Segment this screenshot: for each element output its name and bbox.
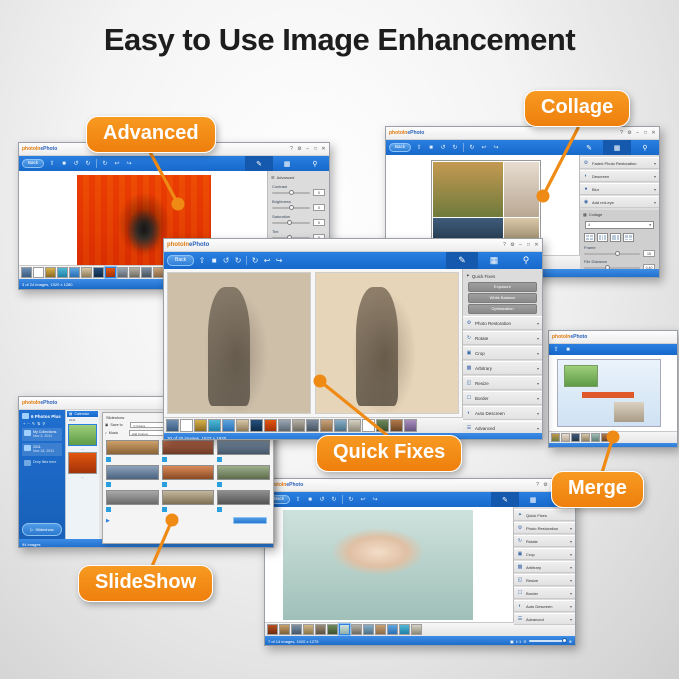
titlebar-card[interactable]: photolnePhoto [549,331,677,344]
row-rotate[interactable]: ↻ Rotate ▾ [514,535,575,547]
collage-template-select[interactable]: 4 ▾ [585,221,654,229]
close-icon[interactable]: ✕ [651,130,656,136]
tab-search[interactable]: ⚲ [301,156,329,171]
slideshow-sidebar[interactable]: 6 Photos Plus + − ✎ ⇅ ⚲ My Collections N… [19,410,65,539]
row-blur[interactable]: ● Blur ▾ [580,183,659,195]
sliders-icon: ☰ [466,425,472,431]
tab-collage[interactable]: ▦ [603,140,631,155]
back-button[interactable]: Back [22,159,44,168]
rotate-left-icon[interactable]: ↺ [72,160,80,168]
chevron-down-icon[interactable]: ▾ [537,381,539,386]
tab-search[interactable]: ⚲ [631,140,659,155]
status-text-merge: 7 of 14 images, 1920 x 1275 [268,639,318,644]
body-card [549,355,677,431]
titlebar-merge[interactable]: photolnePhoto ? ⚙ – □ ✕ [265,479,575,492]
preset-grid-3-col[interactable] [597,233,608,242]
gear-icon[interactable]: ⚙ [543,482,548,488]
sidebar-header: 6 Photos Plus [22,413,62,419]
zoom-slider[interactable] [529,640,567,642]
row-faded-photo-restoration[interactable]: ⚙ Faded Photo Restoration ▾ [580,157,659,169]
theme-select-tick[interactable] [217,507,222,512]
redeye-icon: ◉ [583,199,589,205]
status-text-advanced: 3 of 24 images, 1920 x 1280 [22,282,72,287]
help-icon[interactable]: ? [289,146,294,152]
app-logo: photolnePhoto [22,147,57,152]
gear-icon[interactable]: ⚙ [510,242,515,248]
wand-icon: ✦ [517,512,523,518]
theme-select-tick[interactable] [106,482,111,487]
row-add-red-eye[interactable]: ◉ Add red-eye ▾ [580,196,659,208]
toolbar-quickfixes[interactable]: Back ⇧ ■ ↺ ↻ ↻ ↩ ↪ ✎ ▦ ⚲ [164,252,542,269]
status-text-slideshow: 94 images [22,542,40,547]
window-controls[interactable]: ? ⚙ – □ ✕ [502,239,539,251]
close-icon[interactable]: ✕ [321,146,326,152]
frame-value[interactable]: 15 [643,250,655,257]
app-logo: photolnePhoto [22,401,57,406]
rotate-right-icon[interactable]: ↻ [330,496,338,504]
tab-edit[interactable]: ✎ [491,492,519,507]
maximize-icon[interactable]: □ [643,130,648,136]
undo-icon[interactable]: ↩ [359,496,367,504]
window-controls[interactable]: ? ⚙ – □ ✕ [619,127,656,139]
chevron-down-icon[interactable]: ▾ [570,552,572,557]
theme-cell-3[interactable] [217,440,270,462]
row-advanced[interactable]: ☰ Advanced ▾ [514,613,575,625]
rotate-right-icon[interactable]: ↻ [84,160,92,168]
collage-cell-2[interactable] [504,162,539,217]
theme-select-tick[interactable] [217,457,222,462]
theme-select-tick[interactable] [162,457,167,462]
sidebar-tool-row[interactable]: + − ✎ ⇅ ⚲ [22,421,62,426]
upload-icon[interactable]: ⇧ [48,160,56,168]
theme-cell-6[interactable] [217,465,270,487]
dropzone-icon [24,460,31,466]
chevron-down-icon[interactable]: ▾ [537,336,539,341]
row-border[interactable]: ☐ Border ▾ [514,587,575,599]
collage-section[interactable]: ▦ Collage 4 ▾ Frame 15 [580,210,659,278]
resize-icon: ◱ [466,380,472,386]
contrast-value[interactable]: 0 [313,189,325,196]
tab-search[interactable]: ⚲ [510,252,542,269]
zoom-out-icon[interactable]: ⊖ [523,639,526,644]
tab-collage[interactable]: ▦ [478,252,510,269]
refresh-icon[interactable]: ↻ [468,144,476,152]
photo-before[interactable] [167,272,311,414]
rotate-left-icon[interactable]: ↺ [318,496,326,504]
panel-collage[interactable]: ⚙ Faded Photo Restoration ▾ ◐ Descreen ▾… [579,155,659,255]
statusbar-merge: 7 of 14 images, 1920 x 1275 ▣ 1:1 ⊖ ⊕ [265,636,575,646]
trash-icon[interactable]: ■ [564,346,572,354]
restore-icon: ⚙ [517,525,523,531]
theme-cell-8[interactable] [162,490,215,512]
help-icon[interactable]: ? [502,242,507,248]
collage-cell-1[interactable] [433,162,503,217]
play-icon: ▷ [30,527,33,532]
collage-preview[interactable] [431,160,541,248]
zoom-controls-merge[interactable]: ▣ 1:1 ⊖ ⊕ [510,639,572,644]
chevron-down-icon[interactable]: ▾ [654,161,656,166]
page-title: Easy to Use Image Enhancement [0,22,679,58]
tab-collage[interactable]: ▦ [273,156,301,171]
upload-icon[interactable]: ⇧ [198,257,206,265]
maximize-icon[interactable]: □ [313,146,318,152]
tab-edit[interactable]: ✎ [575,140,603,155]
redo-icon[interactable]: ↪ [275,257,283,265]
upload-icon[interactable]: ⇧ [552,346,560,354]
collage-section-header: ▦ Collage [580,210,659,219]
arbitrary-icon: ▩ [517,564,523,570]
chevron-down-icon[interactable]: ▾ [537,321,539,326]
photo-after[interactable] [315,272,459,414]
chevron-down-icon[interactable]: ▾ [570,526,572,531]
rotate-right-icon[interactable]: ↻ [451,144,459,152]
blur-icon: ● [583,186,589,192]
add-icon[interactable]: + [23,421,25,426]
chevron-down-icon[interactable]: ▾ [570,617,572,622]
upload-icon[interactable]: ⇧ [415,144,423,152]
saturation-value[interactable]: 0 [313,219,325,226]
sidebar-dropzone[interactable]: Drop files here [22,458,62,468]
slider-brightness[interactable]: Brightness 0 [268,198,329,212]
row-arbitrary[interactable]: ▩ Arbitrary ▾ [463,361,542,375]
chevron-down-icon[interactable]: ▾ [537,396,539,401]
sort-icon[interactable]: ⇅ [37,421,40,426]
preset-grid-2-left[interactable] [610,233,621,242]
window-merge[interactable]: photolnePhoto ? ⚙ – □ ✕ Back ⇧ ■ ↺ ↻ ↻ ↩… [264,478,576,646]
zoom-in-icon[interactable]: ⊕ [569,639,572,644]
titlebar-quickfixes[interactable]: photolnePhoto ? ⚙ – □ ✕ [164,239,542,252]
chevron-down-icon[interactable]: ▾ [570,578,572,583]
trash-icon[interactable]: ■ [60,160,68,168]
actual-size-icon[interactable]: 1:1 [516,639,522,644]
chevron-down-icon[interactable]: ▾ [654,187,656,192]
preset-grid-2-top[interactable] [623,233,634,242]
brightness-track[interactable] [272,207,310,209]
row-auto-descreen[interactable]: ◐ Auto Descreen ▾ [463,406,542,420]
center-thumb-2[interactable] [68,452,97,474]
toolbar-merge[interactable]: Back ⇧ ■ ↺ ↻ ↻ ↩ ↪ ✎ ▦ ⚲ [265,492,575,507]
row-crop[interactable]: ▣ Crop ▾ [514,548,575,560]
theme-select-tick[interactable] [162,507,167,512]
card-art-2 [614,402,644,422]
remove-icon[interactable]: − [27,421,29,426]
chevron-down-icon[interactable]: ▾ [570,565,572,570]
border-icon: ☐ [517,590,523,596]
gear-icon[interactable]: ⚙ [627,130,632,136]
toolbar-separator [463,143,464,152]
canvas-merge[interactable] [265,507,513,622]
back-button[interactable]: Back [389,143,411,152]
sidebar-item-2011[interactable]: 2011 Nov 18, 2011 [22,443,62,456]
folder-icon [22,413,29,419]
contrast-track[interactable] [272,192,310,194]
panel-advanced-header: ☰ Advanced [268,173,329,182]
restore-icon: ⚙ [466,320,472,326]
row-border[interactable]: ☐ Border ▾ [463,391,542,405]
slider-saturation[interactable]: Saturation 0 [268,213,329,227]
row-photo-restoration[interactable]: ⚙ Photo Restoration ▾ [514,522,575,534]
center-thumb-1[interactable] [68,424,97,446]
trash-icon[interactable]: ■ [210,257,218,265]
row-arbitrary[interactable]: ▩ Arbitrary ▾ [514,561,575,573]
canvas-quickfixes[interactable] [164,269,462,417]
callout-slideshow[interactable]: SlideShow [78,565,213,602]
rotate-icon: ↻ [466,335,472,341]
tab-edit[interactable]: ✎ [446,252,478,269]
theme-cell-4[interactable] [106,465,159,487]
help-icon[interactable]: ? [535,482,540,488]
center-sep-1: — [67,447,98,451]
window-card-preview[interactable]: photolnePhoto ⇧ ■ [548,330,678,448]
refresh-icon[interactable]: ↻ [251,257,259,265]
callout-collage[interactable]: Collage [524,90,630,127]
callout-quickfixes[interactable]: Quick Fixes [316,435,462,472]
center-sep-2: — [67,475,98,479]
theme-cell-7[interactable] [106,490,159,512]
tab-calendar[interactable]: Calendar [74,412,89,416]
upload-icon[interactable]: ⇧ [294,496,302,504]
filmstrip-card[interactable] [549,431,677,443]
optimization-button[interactable]: Optimization [468,304,537,314]
panel-quickfixes-header: ✦ Quick Fixes [463,271,542,281]
chevron-down-icon[interactable]: ▾ [654,174,656,179]
theme-cell-9[interactable] [217,490,270,512]
folder-icon [24,445,31,451]
row-descreen[interactable]: ◐ Descreen ▾ [580,170,659,182]
slider-contrast[interactable]: Contrast 0 [268,183,329,197]
canvas-card[interactable] [549,355,677,431]
minimize-icon[interactable]: – [518,242,523,248]
maximize-icon[interactable]: □ [526,242,531,248]
chevron-down-icon[interactable]: ▾ [570,539,572,544]
refresh-icon[interactable]: ↻ [347,496,355,504]
toolbar-tabs[interactable]: ✎ ▦ ⚲ [575,140,659,155]
row-quick-fixes[interactable]: ✦ Quick Fixes [514,509,575,521]
sliders-icon: ☰ [517,616,523,622]
preview-icon[interactable]: ▶ [106,518,110,524]
help-icon[interactable]: ? [619,130,624,136]
saturation-track[interactable] [272,222,310,224]
center-date-label: 2011 [67,417,98,423]
theme-select-tick[interactable] [162,482,167,487]
body-merge: ✦ Quick Fixes ⚙ Photo Restoration ▾ ↻ Ro… [265,507,575,622]
chevron-down-icon[interactable]: ▾ [537,366,539,371]
border-icon: ☐ [466,395,472,401]
row-photo-restoration[interactable]: ⚙ Photo Restoration ▾ [463,316,542,330]
music-icon: ♪ [105,431,107,435]
crop-icon: ▣ [517,551,523,557]
gear-icon[interactable]: ⚙ [297,146,302,152]
panel-quickfixes[interactable]: ✦ Quick Fixes Exposure White Balance Opt… [462,269,542,417]
photo-crying-baby[interactable] [283,510,473,620]
tab-edit[interactable]: ✎ [245,156,273,171]
chevron-down-icon[interactable]: ▾ [537,351,539,356]
photo-greeting-card[interactable] [557,359,661,427]
descreen-icon: ◐ [583,173,589,179]
callout-advanced[interactable]: Advanced [86,116,216,153]
chevron-down-icon[interactable]: ▾ [537,426,539,431]
titlebar-collage[interactable]: photolnePhoto ? ⚙ – □ ✕ [386,127,659,140]
toolbar-tabs[interactable]: ✎ ▦ ⚲ [446,252,542,269]
rotate-icon: ↻ [517,538,523,544]
refresh-icon[interactable]: ↻ [101,160,109,168]
calendar-icon: ▤ [69,412,72,416]
redo-icon[interactable]: ↪ [371,496,379,504]
chevron-down-icon[interactable]: ▾ [654,200,656,205]
redo-icon[interactable]: ↪ [125,160,133,168]
slider-frame[interactable]: Frame 15 [580,244,659,258]
row-resize[interactable]: ◱ Resize ▾ [463,376,542,390]
slideshow-center-column[interactable]: ▤ Calendar 2011 — — [65,410,99,539]
resize-icon: ◱ [517,577,523,583]
toolbar-separator [246,256,247,265]
minimize-icon[interactable]: – [305,146,310,152]
theme-select-tick[interactable] [106,457,111,462]
undo-icon[interactable]: ↩ [113,160,121,168]
toolbar-tabs[interactable]: ✎ ▦ ⚲ [245,156,329,171]
collage-icon: ▦ [583,212,587,217]
trash-icon[interactable]: ■ [427,144,435,152]
sliders-icon: ☰ [271,175,275,180]
crop-icon: ▣ [466,350,472,356]
row-crop[interactable]: ▣ Crop ▾ [463,346,542,360]
exposure-button[interactable]: Exposure [468,282,537,292]
toolbar-advanced[interactable]: Back ⇧ ■ ↺ ↻ ↻ ↩ ↪ ✎ ▦ ⚲ [19,156,329,171]
window-controls[interactable]: ? ⚙ – □ ✕ [289,143,326,155]
theme-cell-1[interactable] [106,440,159,462]
rotate-right-icon[interactable]: ↻ [234,257,242,265]
descreen-icon: ◐ [517,603,523,609]
app-logo: photolnePhoto [552,335,587,340]
chevron-down-icon[interactable]: ▾ [570,604,572,609]
status-text-quickfixes: 20 of 20 images, 1527 x 1920 [167,436,226,440]
slideshow-theme-grid[interactable] [103,437,273,515]
trash-icon[interactable]: ■ [306,496,314,504]
edit-icon[interactable]: ✎ [32,421,35,426]
undo-icon[interactable]: ↩ [480,144,488,152]
redo-icon[interactable]: ↪ [492,144,500,152]
chevron-down-icon[interactable]: ▾ [537,411,539,416]
chevron-down-icon[interactable]: ▾ [649,223,651,227]
window-quickfixes[interactable]: photolnePhoto ? ⚙ – □ ✕ Back ⇧ ■ ↺ ↻ ↻ ↩… [163,238,543,440]
chevron-down-icon[interactable]: ▾ [570,591,572,596]
toolbar-separator [342,495,343,504]
frame-track[interactable] [584,253,640,255]
card-banner [582,392,634,398]
preset-grid-2x2[interactable] [584,233,595,242]
card-art-1 [564,365,598,387]
rotate-left-icon[interactable]: ↺ [439,144,447,152]
search-icon[interactable]: ⚲ [42,421,45,426]
body-quickfixes: ✦ Quick Fixes Exposure White Balance Opt… [164,269,542,417]
fit-icon[interactable]: ▣ [510,639,514,644]
row-auto-descreen[interactable]: ◐ Auto Descreen ▾ [514,600,575,612]
restore-icon: ⚙ [583,160,589,166]
toolbar-card[interactable]: ⇧ ■ [549,344,677,355]
minimize-icon[interactable]: – [635,130,640,136]
app-logo: photolnePhoto [389,131,424,136]
brightness-value[interactable]: 0 [313,204,325,211]
folder-icon [24,430,31,436]
slideshow-button[interactable]: ▷ Slideshow [22,523,62,536]
statusbar-card [549,443,677,448]
rotate-left-icon[interactable]: ↺ [222,257,230,265]
theme-select-tick[interactable] [217,482,222,487]
pane-apply-button[interactable] [233,517,267,524]
wand-icon: ✦ [466,273,470,279]
toolbar-separator [96,159,97,168]
app-logo: photolnePhoto [167,242,209,248]
save-icon: ▣ [105,423,108,427]
theme-cell-2[interactable] [162,440,215,462]
back-button[interactable]: Back [167,255,194,266]
collage-preset-row[interactable] [580,231,659,244]
panel-merge[interactable]: ✦ Quick Fixes ⚙ Photo Restoration ▾ ↻ Ro… [513,507,575,622]
callout-merge[interactable]: Merge [551,471,644,508]
undo-icon[interactable]: ↩ [263,257,271,265]
sidebar-item-my-collections[interactable]: My Collections Nov 3, 2011 [22,428,62,441]
white-balance-button[interactable]: White Balance [468,293,537,303]
row-resize[interactable]: ◱ Resize ▾ [514,574,575,586]
arbitrary-icon: ▩ [466,365,472,371]
row-rotate[interactable]: ↻ Rotate ▾ [463,331,542,345]
theme-select-tick[interactable] [106,507,111,512]
theme-cell-5[interactable] [162,465,215,487]
tab-collage[interactable]: ▦ [519,492,547,507]
descreen-icon: ◐ [466,410,472,416]
close-icon[interactable]: ✕ [534,242,539,248]
toolbar-collage[interactable]: Back ⇧ ■ ↺ ↻ ↻ ↩ ↪ ✎ ▦ ⚲ [386,140,659,155]
